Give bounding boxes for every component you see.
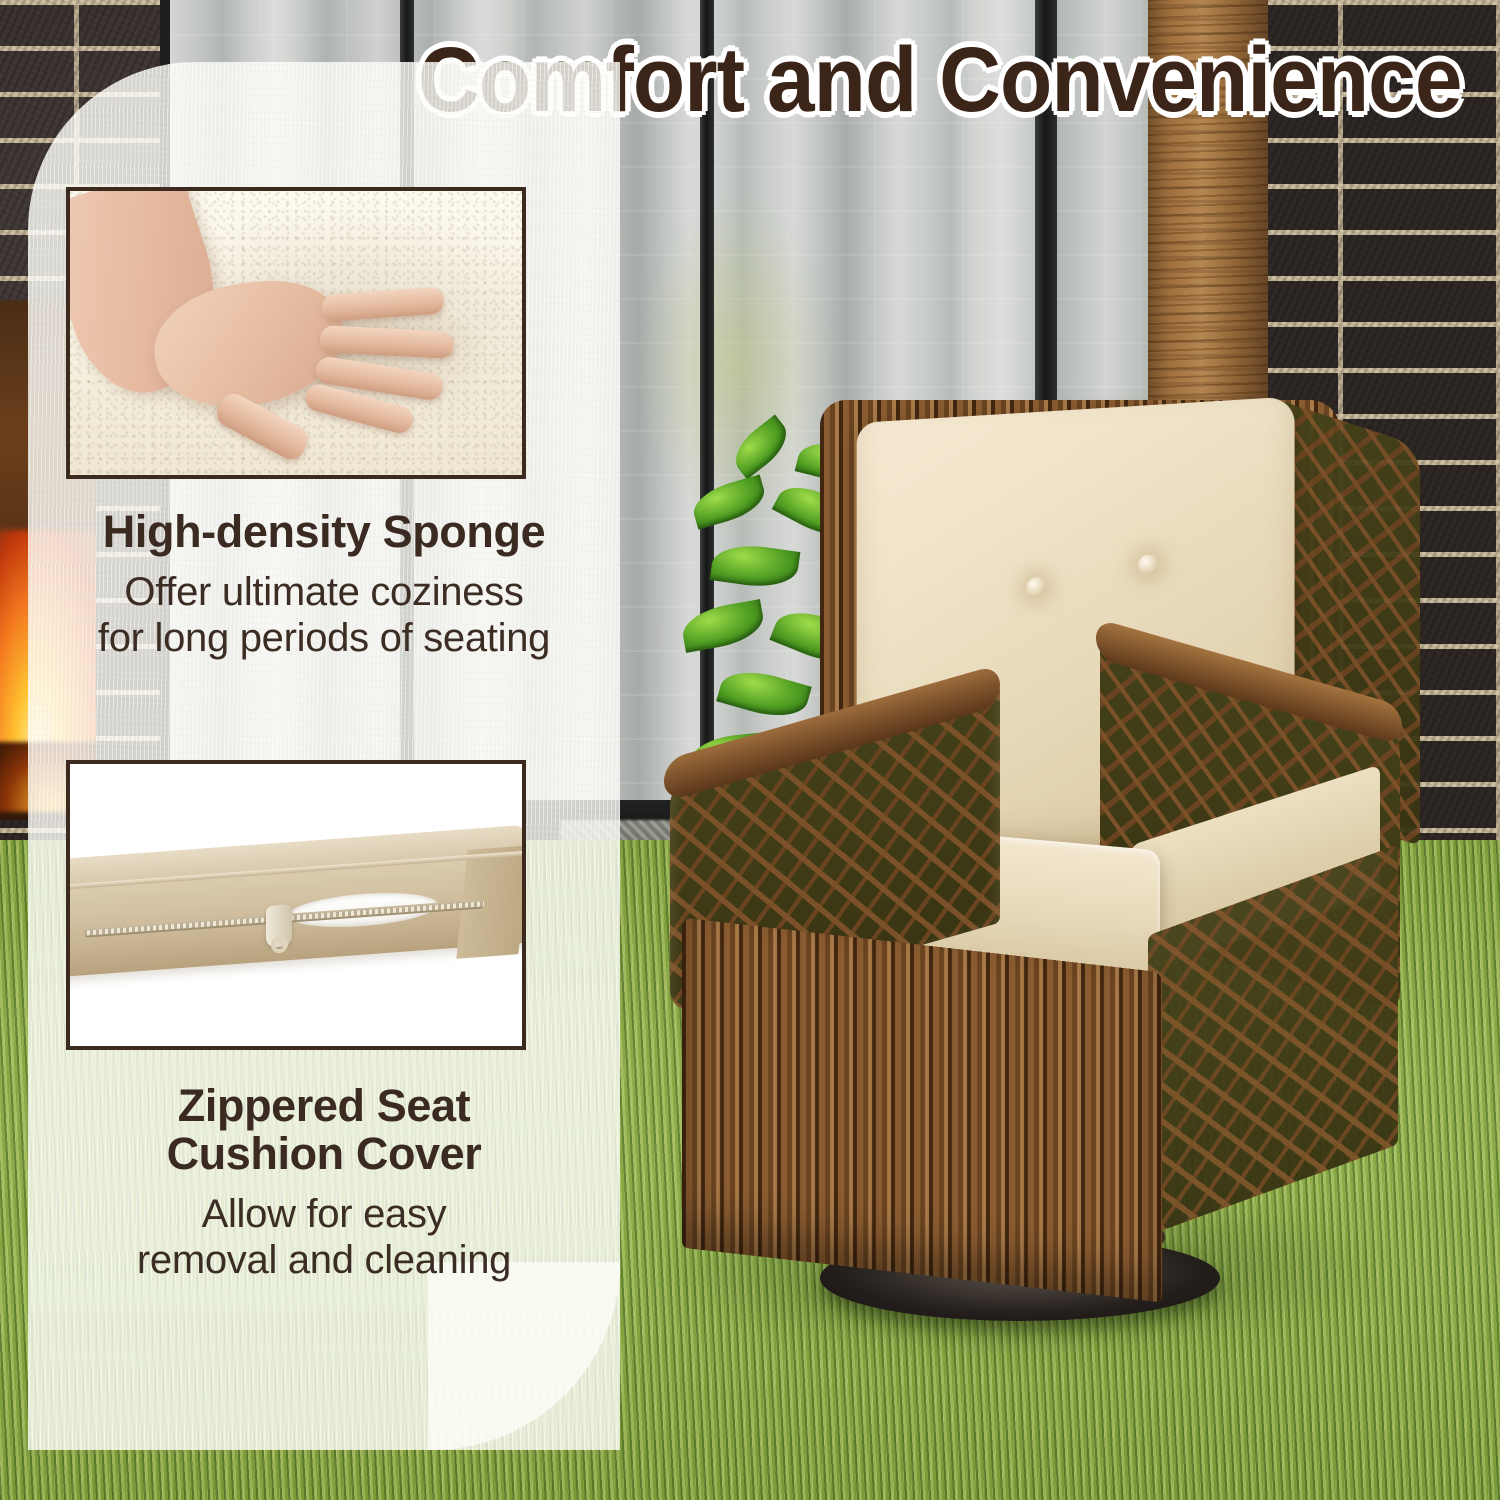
feature-headline-line: Cushion Cover: [28, 1130, 620, 1178]
feature-subtext-line: Allow for easy: [28, 1192, 620, 1238]
cushion-tuft: [1026, 577, 1046, 598]
rattan-swivel-chair: [660, 390, 1490, 1350]
feature-subtext-line: removal and cleaning: [28, 1238, 620, 1284]
feature-subtext: Offer ultimate coziness for long periods…: [28, 570, 620, 661]
feature-subtext: Allow for easy removal and cleaning: [28, 1192, 620, 1283]
feature-image-zippered-cushion-cover: [66, 760, 526, 1050]
chair-seat-base: [682, 918, 1162, 1303]
product-feature-banner: Comfort and Convenience High-density Spo…: [0, 0, 1500, 1500]
feature-subtext-line: for long periods of seating: [28, 616, 620, 662]
feature-image-high-density-sponge: [66, 187, 526, 479]
cushion-tuft: [1138, 554, 1158, 575]
feature-text-high-density-sponge: High-density Sponge Offer ultimate cozin…: [28, 508, 620, 661]
feature-headline: High-density Sponge: [28, 508, 620, 556]
feature-text-zippered-cushion-cover: Zippered Seat Cushion Cover Allow for ea…: [28, 1082, 620, 1283]
feature-headline: Zippered Seat Cushion Cover: [28, 1082, 620, 1178]
feature-subtext-line: Offer ultimate coziness: [28, 570, 620, 616]
feature-headline-line: Zippered Seat: [28, 1082, 620, 1130]
